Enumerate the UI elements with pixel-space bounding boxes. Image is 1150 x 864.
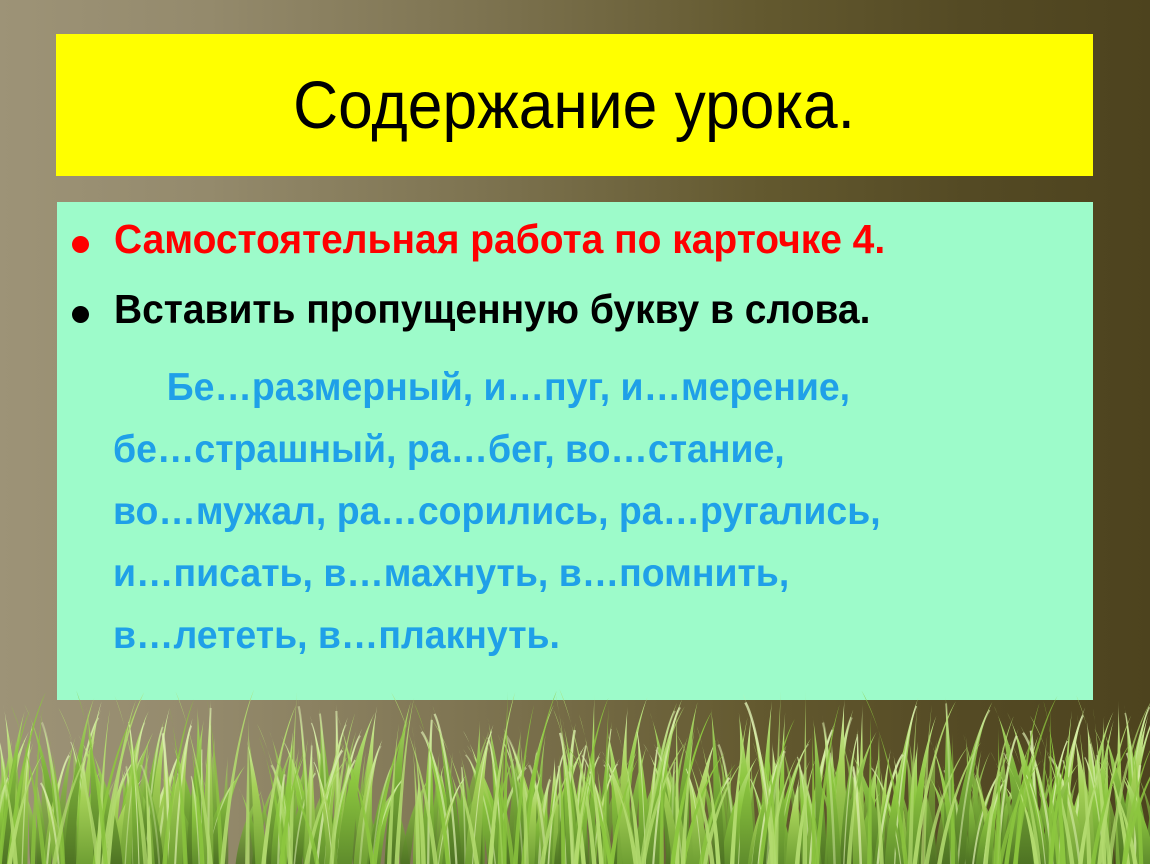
content-panel: Самостоятельная работа по карточке 4. Вс… bbox=[57, 202, 1093, 700]
word-line: и…писать, в…махнуть, в…помнить, bbox=[113, 543, 1046, 605]
slide-title-banner: Содержание урока. bbox=[56, 34, 1093, 176]
grass-blades-icon bbox=[0, 684, 1150, 864]
word-line: бе…страшный, ра…бег, во…стание, bbox=[113, 419, 1046, 481]
word-line: Бе…размерный, и…пуг, и…мерение, bbox=[113, 357, 1046, 419]
bullet-label-task: Самостоятельная работа по карточке 4. bbox=[114, 216, 885, 263]
word-exercise-list: Бе…размерный, и…пуг, и…мерение, бе…страш… bbox=[113, 357, 1085, 667]
word-line: во…мужал, ра…сорились, ра…ругались, bbox=[113, 481, 1046, 543]
bullet-label-instruction: Вставить пропущенную букву в слова. bbox=[114, 286, 870, 333]
word-line: в…лететь, в…плакнуть. bbox=[113, 605, 1046, 667]
grass-border-decoration bbox=[0, 684, 1150, 864]
bullet-dot-icon bbox=[72, 306, 89, 323]
page-title: Содержание урока. bbox=[294, 72, 856, 139]
slide-canvas: Содержание урока. Самостоятельная работа… bbox=[0, 0, 1150, 864]
bullet-dot-icon bbox=[72, 236, 89, 253]
